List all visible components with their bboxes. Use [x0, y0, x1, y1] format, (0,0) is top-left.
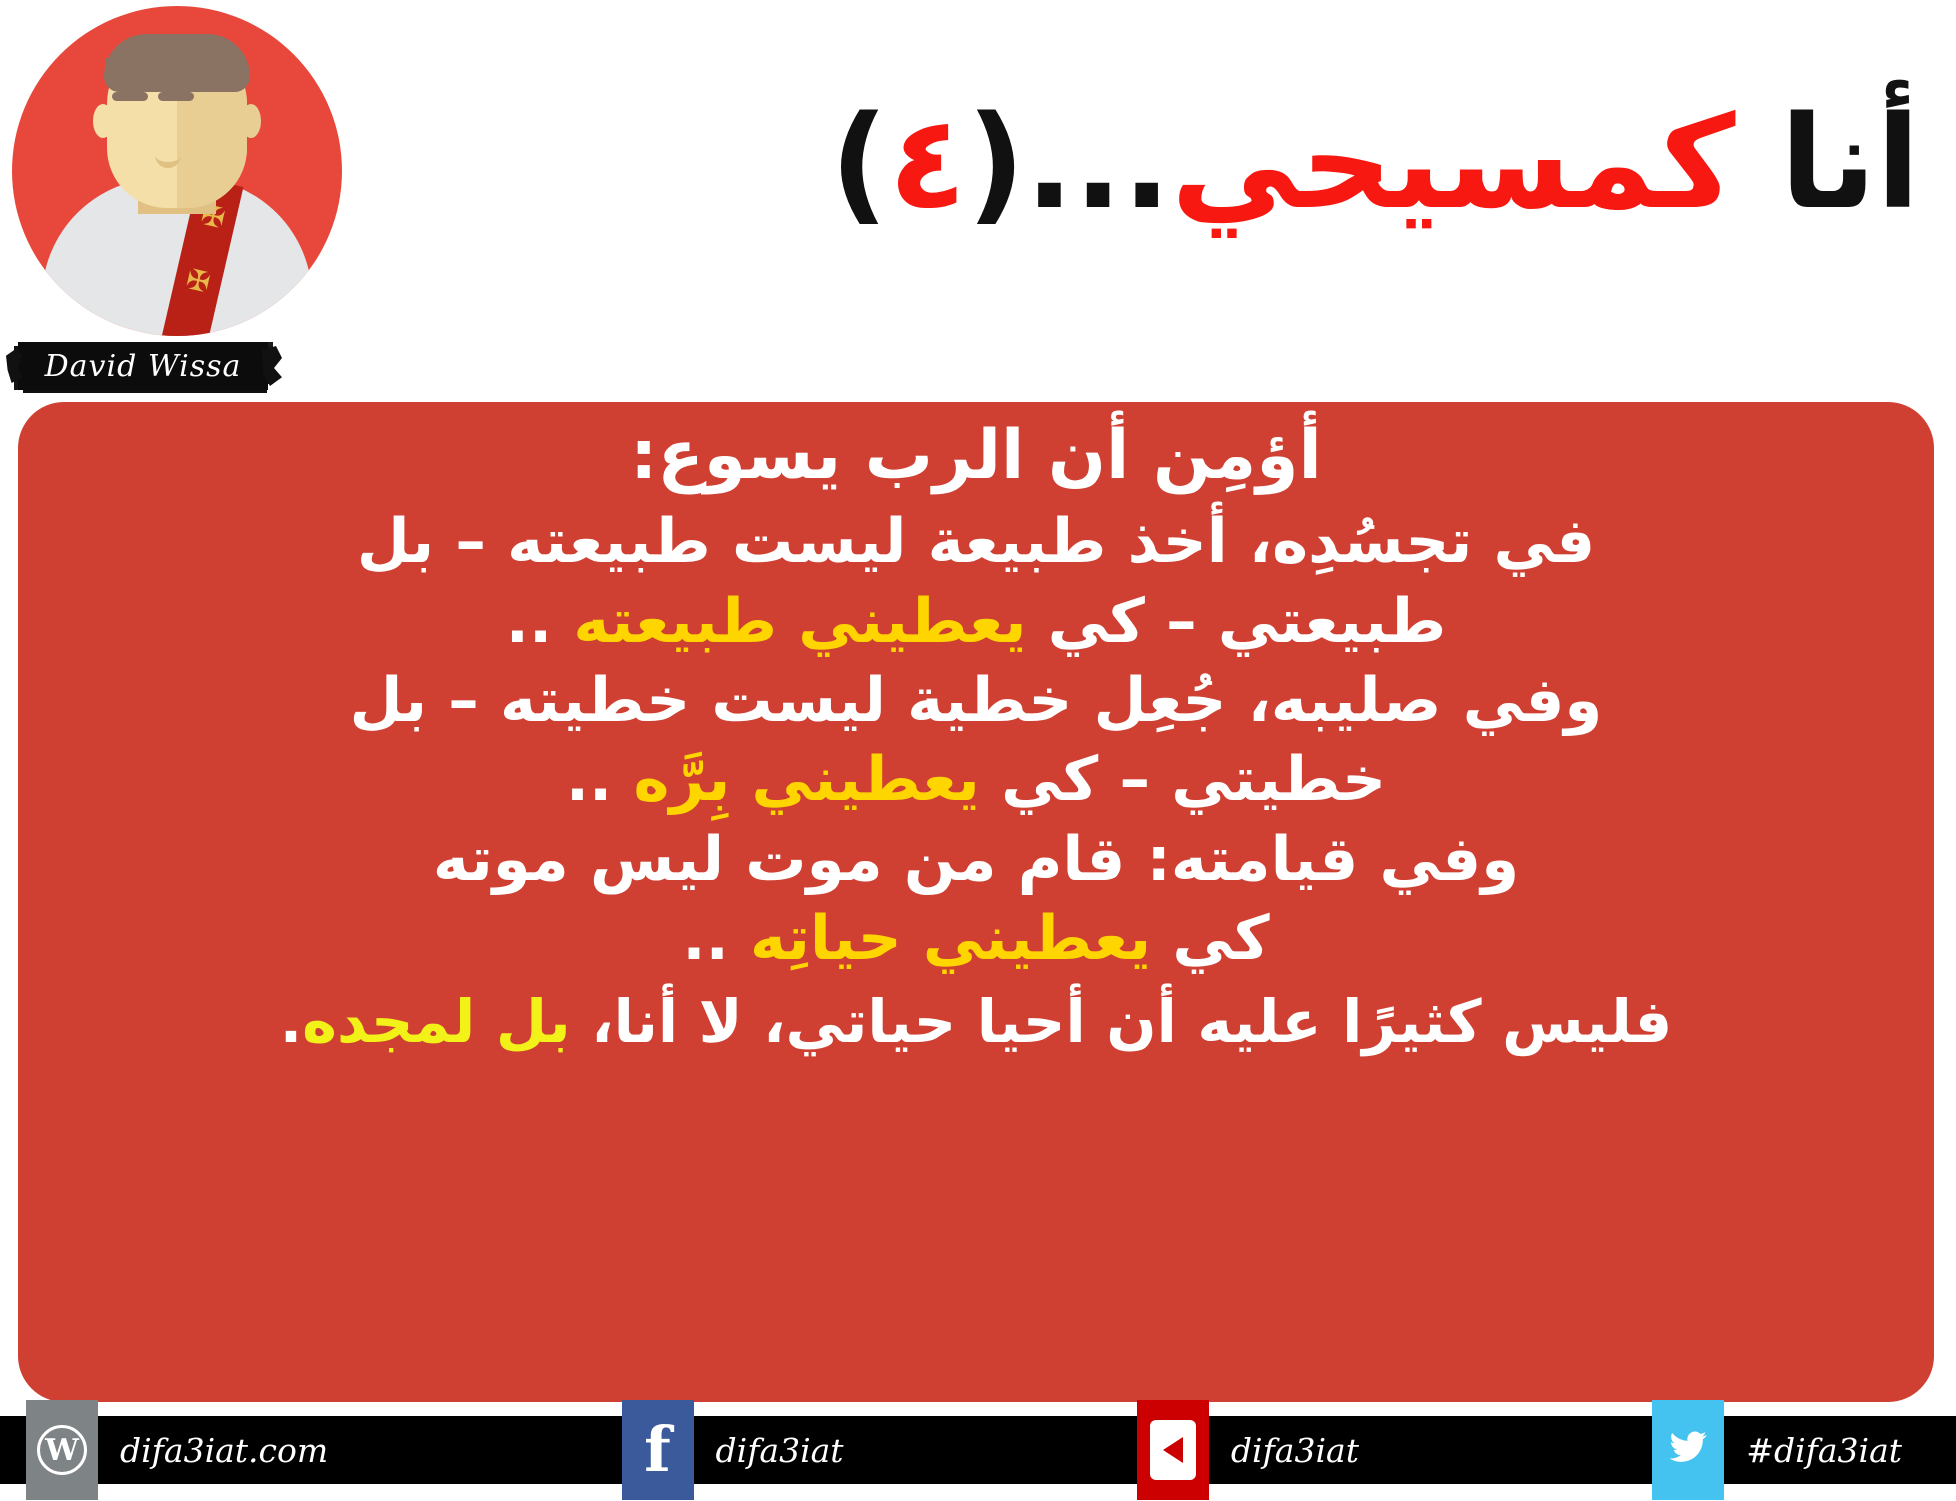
- speech-bubble: أؤمِن أن الرب يسوع: في تجسُدِه، أخذ طبيع…: [18, 402, 1934, 1402]
- body-line-3: طبيعتي – كي يعطيني طبيعته ..: [52, 582, 1900, 661]
- body-line-4: وفي صليبه، جُعِل خطية ليست خطيته – بل: [52, 661, 1900, 740]
- body-line-7-white-a: كي: [1151, 903, 1269, 974]
- cross-icon: ✠: [183, 265, 212, 298]
- body-line-2-text: في تجسُدِه، أخذ طبيعة ليست طبيعته – بل: [357, 506, 1595, 577]
- twitter-icon[interactable]: [1652, 1400, 1724, 1500]
- avatar-ear-right: [241, 104, 261, 138]
- body-line-5-white-b: ..: [566, 744, 634, 815]
- body-line-3-highlight: يعطيني طبيعته: [573, 586, 1026, 657]
- title-part-number: ٤: [888, 89, 966, 238]
- avatar-hair-fringe: [105, 58, 201, 88]
- body-line-8-highlight: بل لمجده: [302, 987, 571, 1056]
- body-line-5: خطيتي – كي يعطيني بِرَّه ..: [52, 740, 1900, 819]
- body-line-8-white-a: فليس كثيرًا عليه أن أحيا حياتي، لا أنا،: [571, 987, 1673, 1056]
- avatar: ✠ ✠: [12, 6, 342, 336]
- title-part-1: أنا: [1735, 89, 1920, 238]
- body-line-3-white-b: ..: [506, 586, 574, 657]
- body-line-5-white-a: خطيتي – كي: [980, 744, 1386, 815]
- footer-label-twitter[interactable]: #difa3iat: [1724, 1431, 1930, 1470]
- body-line-1: أؤمِن أن الرب يسوع:: [52, 412, 1900, 500]
- body-line-7: كي يعطيني حياتِه ..: [52, 899, 1900, 978]
- footer-item-facebook[interactable]: f difa3iat: [622, 1400, 872, 1500]
- avatar-circle: ✠ ✠: [12, 6, 342, 336]
- youtube-play-glyph: [1150, 1420, 1196, 1480]
- author-name-banner: David Wissa: [18, 342, 268, 390]
- footer-bar: W difa3iat.com f difa3iat difa3iat: [0, 1416, 1956, 1484]
- footer-links: W difa3iat.com f difa3iat difa3iat: [0, 1400, 1956, 1500]
- poster-canvas: ✠ ✠ David Wissa أنا كمسيحي...(٤) أؤمِن أ…: [0, 0, 1956, 1501]
- footer-label-facebook[interactable]: difa3iat: [694, 1431, 872, 1470]
- body-line-1-text: أؤمِن أن الرب يسوع:: [630, 416, 1322, 495]
- body-line-8: فليس كثيرًا عليه أن أحيا حياتي، لا أنا، …: [52, 984, 1900, 1061]
- footer-label-youtube[interactable]: difa3iat: [1209, 1431, 1387, 1470]
- facebook-glyph: f: [644, 1419, 671, 1481]
- body-line-6: وفي قيامته: قام من موت ليس موته: [52, 820, 1900, 899]
- title-part-2: ...(: [967, 89, 1171, 238]
- facebook-icon[interactable]: f: [622, 1400, 694, 1500]
- body-line-3-white-a: طبيعتي – كي: [1026, 586, 1446, 657]
- body-line-5-highlight: يعطيني بِرَّه: [633, 744, 979, 815]
- title-part-highlight: كمسيحي: [1171, 89, 1736, 238]
- body-line-2: في تجسُدِه، أخذ طبيعة ليست طبيعته – بل: [52, 502, 1900, 581]
- body-line-7-highlight: يعطيني حياتِه: [750, 903, 1151, 974]
- twitter-bird-glyph: [1665, 1427, 1711, 1474]
- footer-item-twitter[interactable]: #difa3iat: [1652, 1400, 1930, 1500]
- page-title: أنا كمسيحي...(٤): [830, 84, 1920, 244]
- avatar-ear-left: [93, 104, 113, 138]
- avatar-eyebrow-left: [112, 92, 148, 101]
- avatar-eyebrow-right: [158, 92, 194, 101]
- body-line-7-white-b: ..: [682, 903, 750, 974]
- body-line-4-text: وفي صليبه، جُعِل خطية ليست خطيته – بل: [350, 665, 1603, 736]
- body-line-6-text: وفي قيامته: قام من موت ليس موته: [433, 824, 1519, 895]
- author-name: David Wissa: [18, 342, 268, 390]
- wordpress-icon[interactable]: W: [26, 1400, 98, 1500]
- play-triangle-icon: [1163, 1437, 1183, 1463]
- title-part-3: ): [830, 89, 889, 238]
- body-line-8-white-b: .: [280, 987, 302, 1056]
- footer-item-wordpress[interactable]: W difa3iat.com: [26, 1400, 356, 1500]
- footer-item-youtube[interactable]: difa3iat: [1137, 1400, 1387, 1500]
- wordpress-glyph: W: [37, 1425, 87, 1475]
- footer-label-wordpress[interactable]: difa3iat.com: [98, 1431, 356, 1470]
- body-text: أؤمِن أن الرب يسوع: في تجسُدِه، أخذ طبيع…: [18, 402, 1934, 1402]
- youtube-icon[interactable]: [1137, 1400, 1209, 1500]
